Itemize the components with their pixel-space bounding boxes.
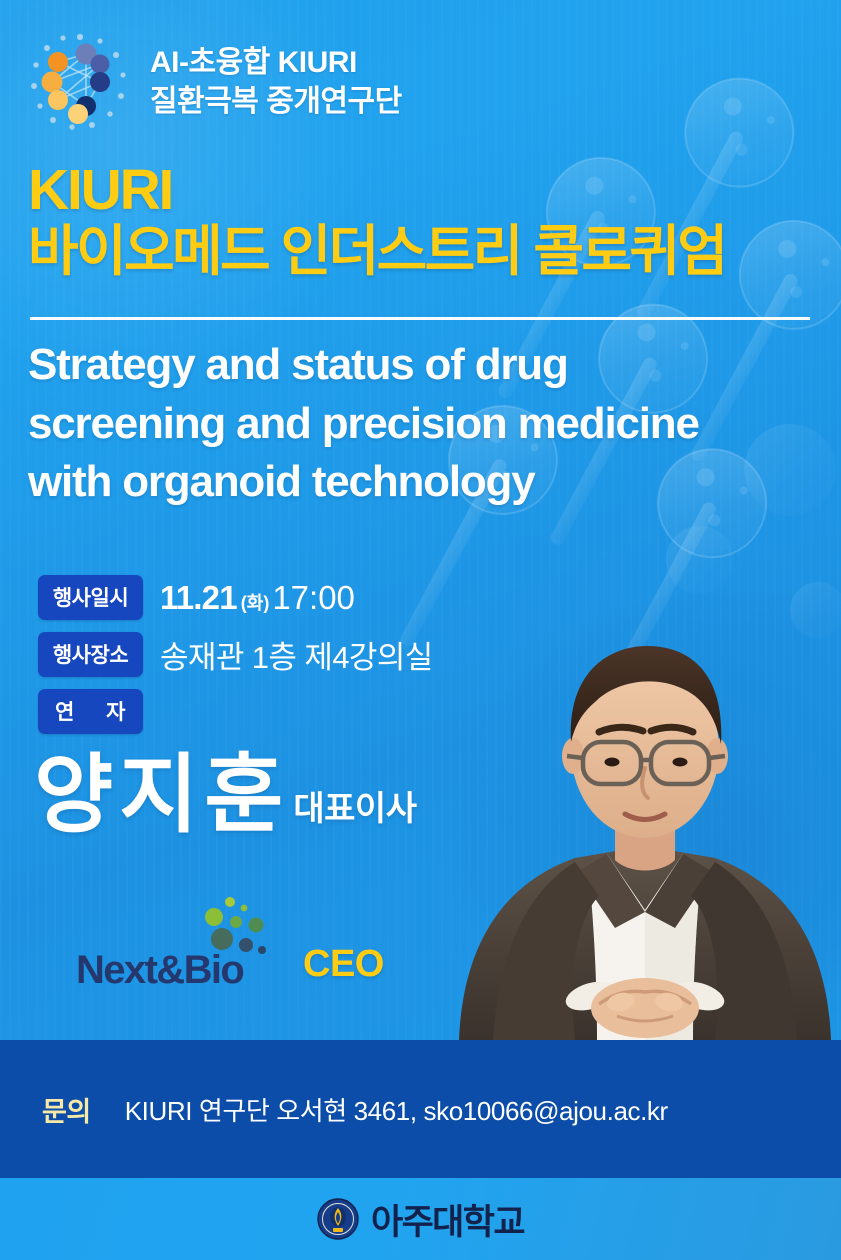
seminar-poster: AI-초융합 KIURI 질환극복 중개연구단 KIURI 바이오메드 인더스트… (0, 0, 841, 1260)
lecture-subtitle: Strategy and status of drug screening an… (28, 336, 818, 512)
speaker-name-block: 양지훈 대표이사 (34, 752, 417, 838)
event-venue-badge: 행사장소 (38, 632, 143, 677)
event-date-weekday: (화) (241, 593, 270, 613)
event-date-badge: 행사일시 (38, 575, 143, 620)
event-date-time: 17:00 (272, 579, 355, 616)
subtitle-line-2: screening and precision medicine (28, 395, 818, 454)
kiuri-network-logo-icon (28, 30, 132, 134)
event-date-value: 11.21(화)17:00 (160, 579, 355, 617)
poster-title: KIURI 바이오메드 인더스트리 콜로퀴엄 (28, 160, 818, 281)
event-venue-value: 송재관 1층 제4강의실 (160, 632, 433, 677)
event-date-day: 11.21 (160, 579, 237, 616)
poster-header: AI-초융합 KIURI 질환극복 중개연구단 (28, 30, 402, 134)
company-block: Next&Bio CEO (76, 895, 384, 995)
contact-label: 문의 (42, 1090, 91, 1129)
university-strip: 아주대학교 (0, 1178, 841, 1260)
subtitle-line-1: Strategy and status of drug (28, 336, 818, 395)
header-line-2: 질환극복 중개연구단 (150, 82, 402, 121)
title-line-1: KIURI (28, 160, 818, 222)
header-title: AI-초융합 KIURI 질환극복 중개연구단 (150, 43, 402, 121)
title-divider (30, 317, 810, 320)
event-date-row: 행사일시 11.21(화)17:00 (38, 575, 508, 620)
ajou-university-seal-icon (317, 1198, 359, 1240)
subtitle-line-3: with organoid technology (28, 453, 818, 512)
university-name: 아주대학교 (371, 1194, 524, 1245)
title-line-2: 바이오메드 인더스트리 콜로퀴엄 (28, 222, 818, 281)
company-role: CEO (303, 943, 384, 986)
event-speaker-row: 연 자 (38, 689, 508, 734)
event-venue-row: 행사장소 송재관 1층 제4강의실 (38, 632, 508, 677)
contact-details: KIURI 연구단 오서현 3461, sko10066@ajou.ac.kr (125, 1091, 668, 1128)
nextandbio-wordmark: Next&Bio (76, 948, 243, 993)
event-speaker-badge: 연 자 (38, 689, 143, 734)
speaker-portrait-illustration (449, 610, 841, 1040)
speaker-name: 양지훈 (34, 752, 289, 838)
header-line-1: AI-초융합 KIURI (150, 43, 402, 82)
speaker-portrait (449, 610, 841, 1040)
contact-bar: 문의 KIURI 연구단 오서현 3461, sko10066@ajou.ac.… (0, 1040, 841, 1178)
speaker-position: 대표이사 (289, 781, 416, 838)
event-info: 행사일시 11.21(화)17:00 행사장소 송재관 1층 제4강의실 연 자 (38, 575, 508, 746)
nextandbio-logo: Next&Bio (76, 895, 281, 995)
